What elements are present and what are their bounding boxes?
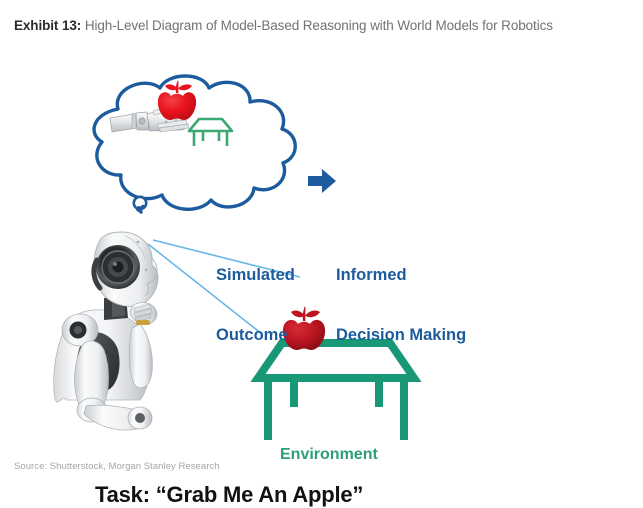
- arrow-right-icon: [308, 169, 336, 193]
- source-note: Source: Shutterstock, Morgan Stanley Res…: [14, 461, 220, 472]
- robot-chin-hand: [129, 303, 157, 388]
- simulated-outcome-line2: Outcome: [216, 325, 295, 345]
- informed-decision-line1: Informed: [336, 265, 466, 285]
- task-label: Task: “Grab Me An Apple”: [95, 482, 363, 508]
- exhibit-number: Exhibit 13:: [14, 18, 81, 33]
- informed-decision-line2: Decision Making: [336, 325, 466, 345]
- diagram-figure: Simulated Outcome Informed Decision Maki…: [0, 62, 643, 454]
- exhibit-title: High-Level Diagram of Model-Based Reason…: [85, 18, 553, 33]
- environment-label: Environment: [280, 446, 378, 464]
- exhibit-page: Exhibit 13: High-Level Diagram of Model-…: [0, 0, 643, 477]
- simulated-outcome-line1: Simulated: [216, 265, 295, 285]
- thought-bubble: [94, 76, 295, 214]
- simulated-outcome-label: Simulated Outcome: [216, 225, 295, 385]
- bubble-tail-dot-2: [141, 205, 145, 209]
- bubble-tail-dot-3: [139, 210, 143, 214]
- page-title: Exhibit 13: High-Level Diagram of Model-…: [14, 14, 614, 37]
- informed-decision-label: Informed Decision Making: [336, 225, 466, 385]
- thinking-robot: [54, 232, 158, 430]
